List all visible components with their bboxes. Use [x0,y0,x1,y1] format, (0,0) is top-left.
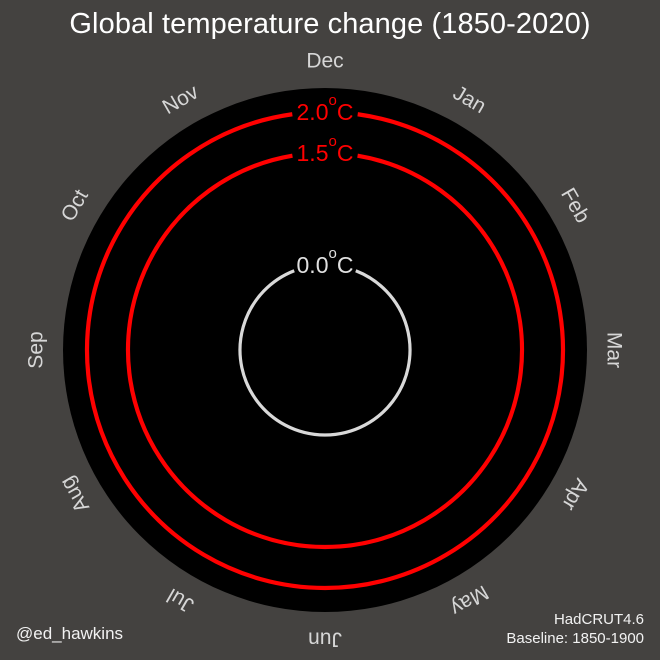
month-label-nov: Nov [159,80,203,119]
month-label-mar: Mar [602,332,625,368]
baseline-period: Baseline: 1850-1900 [506,629,644,648]
month-label-may: May [446,580,492,620]
month-label-apr: Apr [557,475,593,515]
month-label-oct: Oct [57,185,93,225]
month-label-aug: Aug [55,473,94,517]
plot-disc [63,88,587,612]
month-label-jun: Jun [308,627,342,650]
month-label-sep: Sep [25,331,48,368]
dataset-attribution: HadCRUT4.6 Baseline: 1850-1900 [506,610,644,648]
figure-canvas: Global temperature change (1850-2020) 0.… [0,0,660,660]
author-credit: @ed_hawkins [16,624,123,644]
month-label-jan: Jan [449,81,490,118]
dataset-name: HadCRUT4.6 [506,610,644,629]
month-label-jul: Jul [163,584,198,617]
climate-spiral-plot: 0.0oC1.5oC2.0oCJanFebMarAprMayJunJulAugS… [0,0,660,660]
month-label-dec: Dec [306,50,343,73]
month-label-feb: Feb [556,184,594,227]
